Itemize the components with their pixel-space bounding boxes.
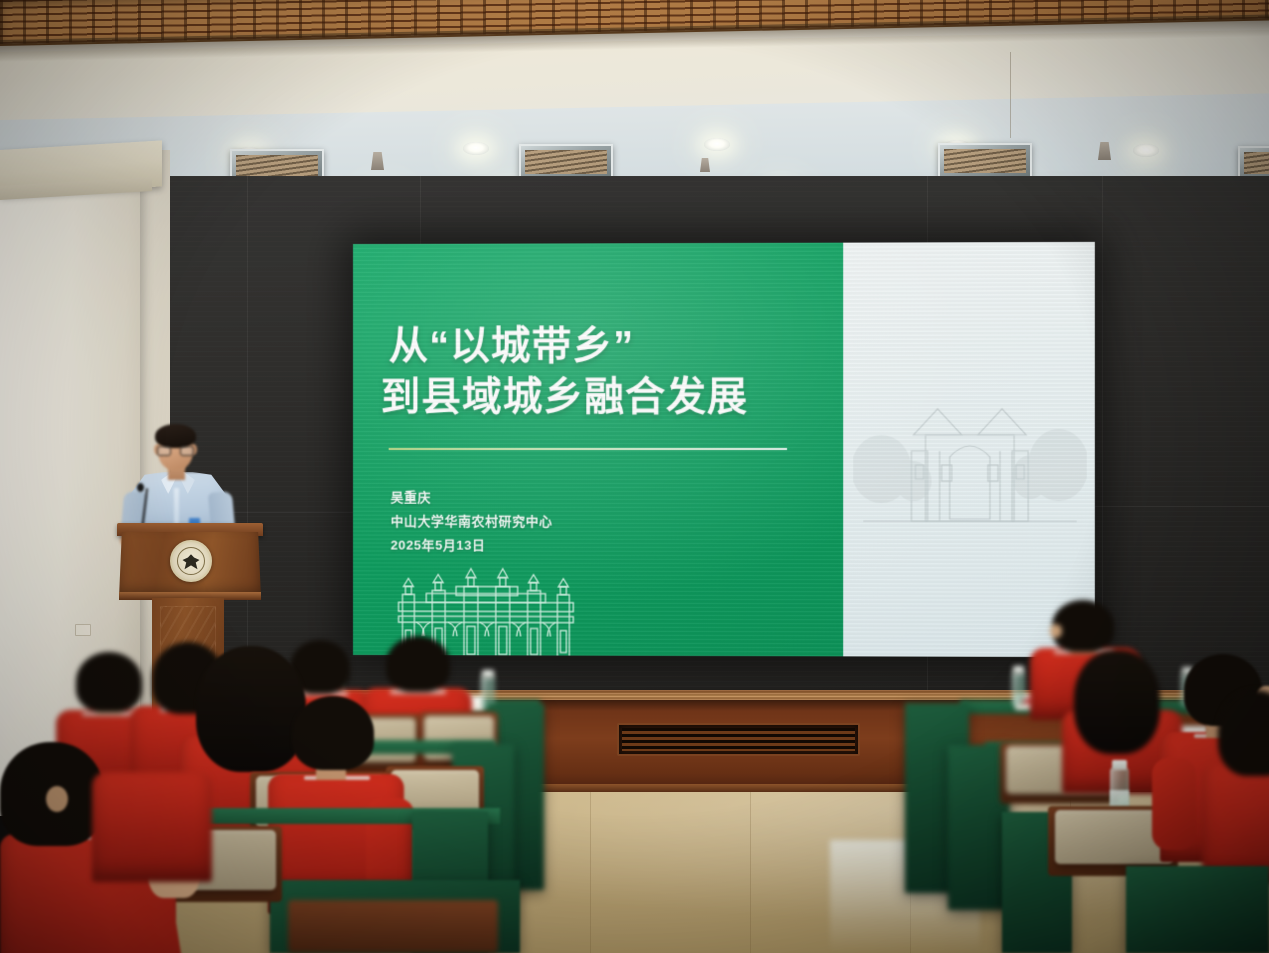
water-bottle: [1012, 672, 1025, 706]
glasses-icon: [157, 446, 194, 456]
slide-divider-rule: [389, 448, 787, 450]
microphone-icon: [137, 483, 144, 492]
air-vent-icon: [1238, 146, 1269, 180]
university-seal-icon: [170, 540, 212, 582]
downlight-icon: [1133, 144, 1159, 157]
bottle-cap: [1013, 666, 1024, 674]
air-vent-icon: [519, 144, 613, 180]
slide-metadata: 吴重庆 中山大学华南农村研究中心 2025年5月13日: [391, 486, 553, 558]
downlight-icon: [463, 142, 489, 155]
slide-presenter-name: 吴重庆: [391, 486, 553, 510]
air-vent-icon: [938, 143, 1032, 179]
ceiling-seam: [1010, 52, 1011, 138]
bottle-cap: [1112, 760, 1127, 770]
table-skirt: [1126, 866, 1269, 953]
projection-screen: 中山大學 SUN YAT-SEN UNIVERSITY 从“以城带乡” 到县域城…: [353, 242, 1095, 657]
slide-title-line2: 到县域城乡融合发展: [381, 372, 817, 423]
speaker-hair: [155, 424, 196, 448]
stage-louvered-vent: [617, 723, 860, 756]
slide-date: 2025年5月13日: [391, 534, 553, 558]
bottle-cap: [482, 670, 494, 678]
chair-frame: [288, 900, 498, 953]
lecture-hall-photo: 中山大學 SUN YAT-SEN UNIVERSITY 从“以城带乡” 到县域城…: [0, 0, 1269, 953]
slide-title-line1: 从“以城带乡”: [389, 321, 817, 373]
slide-white-panel: 中山大學 SUN YAT-SEN UNIVERSITY: [843, 242, 1095, 657]
wall-outlet: [75, 624, 91, 636]
sysu-building-watermark-icon: [853, 373, 1087, 554]
slide-title: 从“以城带乡” 到县域城乡融合发展: [389, 321, 817, 424]
downlight-icon: [704, 138, 730, 151]
slide-affiliation: 中山大学华南农村研究中心: [391, 510, 553, 534]
